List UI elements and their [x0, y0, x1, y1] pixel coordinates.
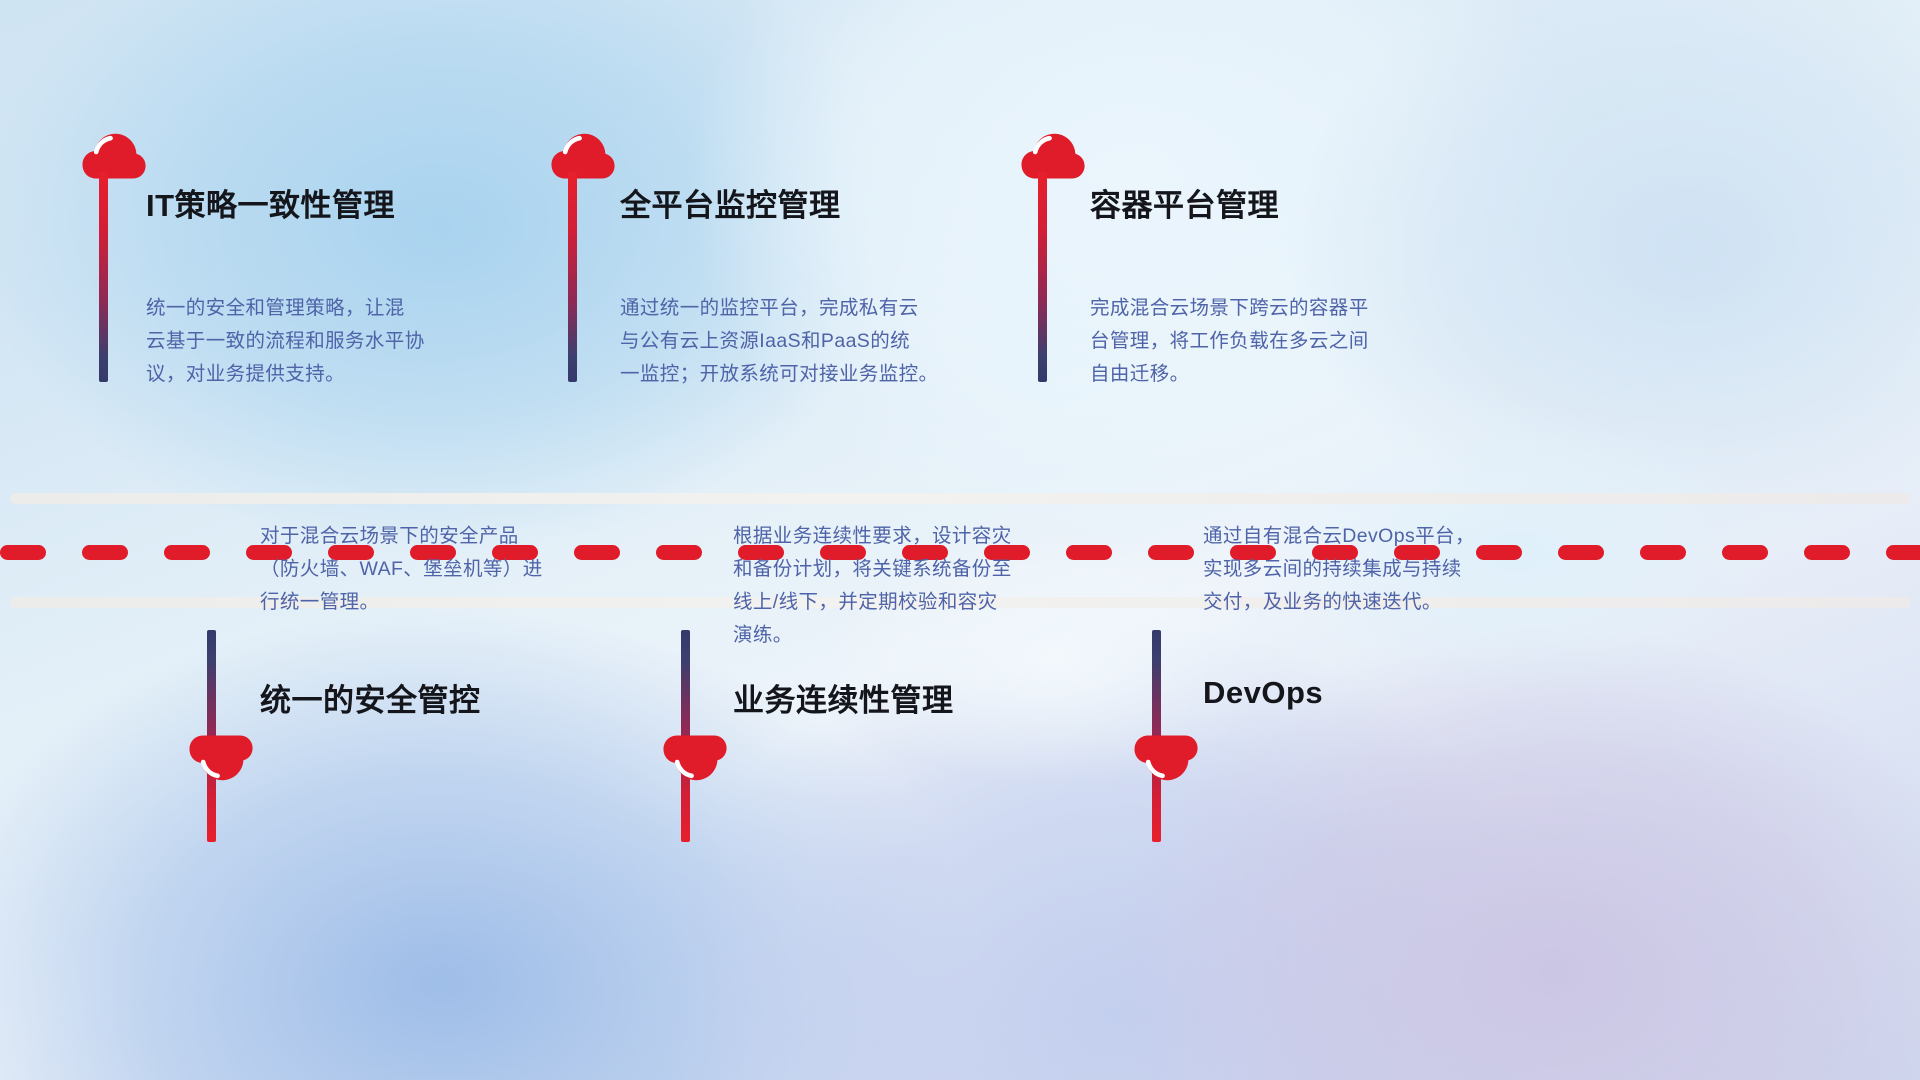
item-title: DevOps — [1203, 675, 1323, 711]
item-title: 容器平台管理 — [1090, 180, 1279, 225]
item-body: 通过自有混合云DevOps平台， 实现多云间的持续集成与持续 交付，及业务的快速… — [1203, 520, 1563, 619]
dash-segment — [1148, 545, 1194, 560]
dash-segment — [1640, 545, 1686, 560]
item-body: 通过统一的监控平台，完成私有云 与公有云上资源IaaS和PaaS的统 一监控；开… — [620, 292, 1010, 391]
stem-connector — [568, 172, 577, 382]
divider-line-top — [10, 493, 1910, 504]
infographic-canvas: IT策略一致性管理 统一的安全和管理策略，让混 云基于一致的流程和服务水平协 议… — [0, 0, 1920, 1080]
cloud-icon — [189, 735, 253, 781]
dash-segment — [1722, 545, 1768, 560]
item-body: 对于混合云场景下的安全产品 （防火墙、WAF、堡垒机等）进 行统一管理。 — [260, 520, 620, 619]
stem-connector — [99, 172, 108, 382]
cloud-icon — [663, 735, 727, 781]
dash-segment — [164, 545, 210, 560]
dash-segment — [0, 545, 46, 560]
cloud-icon — [551, 133, 615, 179]
item-body: 完成混合云场景下跨云的容器平 台管理，将工作负载在多云之间 自由迁移。 — [1090, 292, 1460, 391]
dash-segment — [1804, 545, 1850, 560]
dash-segment — [1558, 545, 1604, 560]
cloud-icon — [1134, 735, 1198, 781]
dash-segment — [82, 545, 128, 560]
item-body: 统一的安全和管理策略，让混 云基于一致的流程和服务水平协 议，对业务提供支持。 — [146, 292, 516, 391]
dash-segment — [1886, 545, 1920, 560]
cloud-icon — [82, 133, 146, 179]
dash-segment — [656, 545, 702, 560]
item-title: 统一的安全管控 — [260, 675, 481, 720]
item-title: 全平台监控管理 — [620, 180, 841, 225]
item-body: 根据业务连续性要求，设计容灾 和备份计划，将关键系统备份至 线上/线下，并定期校… — [733, 520, 1093, 652]
item-title: IT策略一致性管理 — [146, 180, 395, 225]
stem-connector — [1038, 172, 1047, 382]
item-title: 业务连续性管理 — [733, 675, 954, 720]
cloud-icon — [1021, 133, 1085, 179]
